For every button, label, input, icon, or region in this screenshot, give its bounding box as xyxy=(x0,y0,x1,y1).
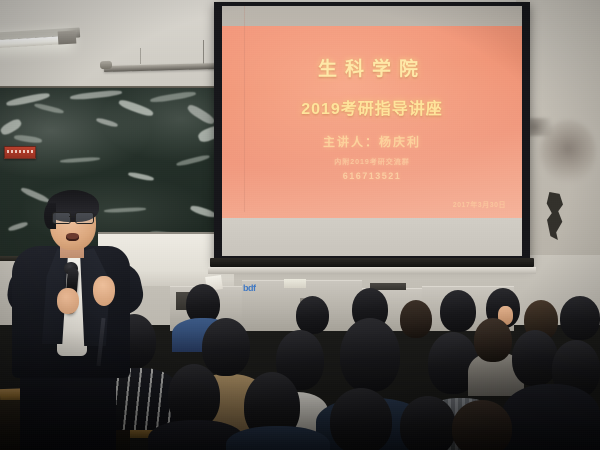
audience-head xyxy=(330,388,392,450)
slide-date: 2017年3月30日 xyxy=(453,200,506,210)
glasses-icon xyxy=(52,212,95,222)
red-notice-sign xyxy=(4,146,36,159)
audience-head xyxy=(452,400,512,450)
rail-end-cap xyxy=(100,61,112,69)
audience-head xyxy=(560,296,600,340)
wall-stain xyxy=(540,120,596,184)
cabinet-brand-logo: bdf xyxy=(243,283,256,293)
screen-top-band xyxy=(222,6,522,26)
speaker-left-hand xyxy=(57,288,79,314)
screen-seam xyxy=(244,6,245,212)
audience-head xyxy=(202,318,250,376)
slide-speaker-line: 主讲人：杨庆利 xyxy=(222,133,522,150)
screen-roller xyxy=(208,267,536,274)
audience-head xyxy=(296,296,329,334)
rail-wire xyxy=(203,40,204,64)
speaker-right-hand xyxy=(93,276,115,306)
audience-head xyxy=(168,364,220,428)
paper-label xyxy=(284,279,306,288)
audience-head xyxy=(474,318,512,362)
lecture-hall-photo: 生科学院 2019考研指导讲座 主讲人：杨庆利 内附2019考研交流群 6167… xyxy=(0,0,600,450)
audience-head xyxy=(400,300,432,338)
light-end-cap xyxy=(58,30,77,44)
audience-head xyxy=(440,290,476,332)
screen-bottom-band xyxy=(222,218,522,256)
screen-bottom-bar xyxy=(210,258,534,267)
audience-head xyxy=(512,330,558,386)
slide-qq-group: 616713521 xyxy=(222,171,522,181)
projection-screen: 生科学院 2019考研指导讲座 主讲人：杨庆利 内附2019考研交流群 6167… xyxy=(222,6,522,256)
slide-text-block: 生科学院 2019考研指导讲座 主讲人：杨庆利 内附2019考研交流群 6167… xyxy=(222,26,522,218)
slide-note-line: 内附2019考研交流群 xyxy=(222,157,522,167)
projected-slide: 生科学院 2019考研指导讲座 主讲人：杨庆利 内附2019考研交流群 6167… xyxy=(222,26,522,218)
rail-wire-secondary xyxy=(140,48,141,64)
slide-subtitle: 2019考研指导讲座 xyxy=(222,95,522,119)
speaker-mouth xyxy=(66,233,79,241)
slide-title: 生科学院 xyxy=(222,54,522,81)
audience-shoulders xyxy=(502,384,600,450)
audience-head xyxy=(340,318,400,392)
audience-head xyxy=(400,396,456,450)
